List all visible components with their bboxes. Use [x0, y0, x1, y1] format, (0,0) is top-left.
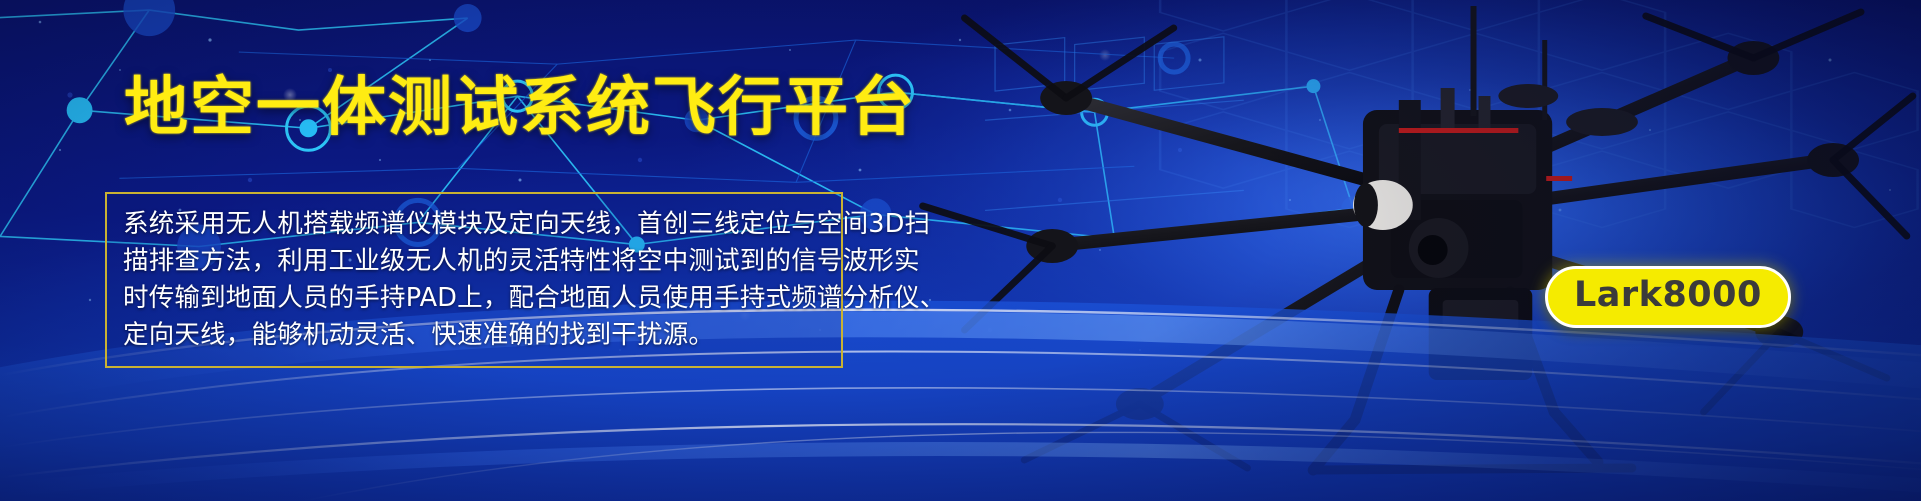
product-banner: 地空一体测试系统飞行平台 系统采用无人机搭载频谱仪模块及定向天线，首创三线定位与…	[0, 0, 1921, 501]
description-line-1: 系统采用无人机搭载频谱仪模块及定向天线，首创三线定位与空间3D扫	[123, 206, 827, 243]
description-line-4: 定向天线，能够机动灵活、快速准确的找到干扰源。	[123, 317, 827, 354]
page-title: 地空一体测试系统飞行平台	[124, 76, 916, 140]
description-line-3: 时传输到地面人员的手持PAD上，配合地面人员使用手持式频谱分析仪、	[123, 280, 827, 317]
description-line-2: 描排查方法，利用工业级无人机的灵活特性将空中测试到的信号波形实	[123, 243, 827, 280]
banner-content: 地空一体测试系统飞行平台 系统采用无人机搭载频谱仪模块及定向天线，首创三线定位与…	[0, 0, 1921, 501]
description-box: 系统采用无人机搭载频谱仪模块及定向天线，首创三线定位与空间3D扫 描排查方法，利…	[105, 192, 843, 368]
product-model-badge: Lark8000	[1545, 266, 1791, 328]
